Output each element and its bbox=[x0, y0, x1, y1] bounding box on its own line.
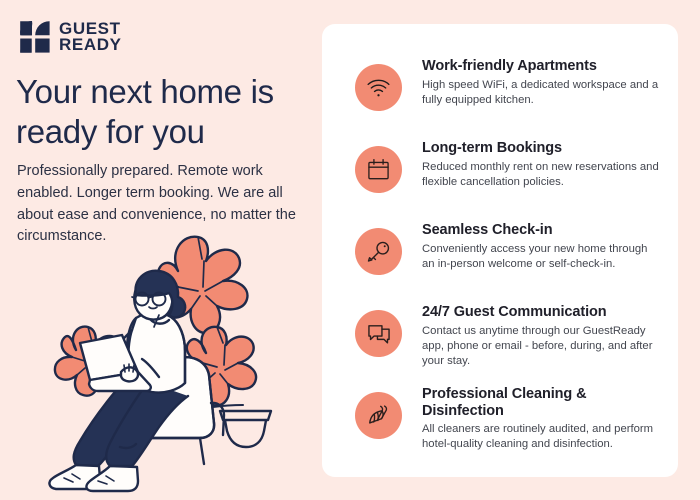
list-item[interactable]: Seamless Check-in Conveniently access yo… bbox=[355, 222, 663, 275]
list-item[interactable]: Work-friendly Apartments High speed WiFi… bbox=[355, 58, 663, 111]
wifi-icon bbox=[355, 64, 402, 111]
feature-description: All cleaners are routinely audited, and … bbox=[422, 422, 663, 452]
page-title: Your next home is ready for you bbox=[16, 72, 316, 153]
brand-logo[interactable]: GUEST READY bbox=[17, 21, 122, 54]
feature-text: Work-friendly Apartments High speed WiFi… bbox=[402, 58, 663, 108]
list-item[interactable]: Professional Cleaning & Disinfection All… bbox=[355, 386, 663, 452]
guestready-quadrant-logo-icon bbox=[17, 21, 50, 53]
hero-illustration bbox=[28, 225, 316, 497]
calendar-icon bbox=[355, 146, 402, 193]
feature-text: 24/7 Guest Communication Contact us anyt… bbox=[402, 304, 663, 369]
list-item[interactable]: 24/7 Guest Communication Contact us anyt… bbox=[355, 304, 663, 369]
chat-bubbles-icon bbox=[355, 310, 402, 357]
marketing-page: GUEST READY Your next home is ready for … bbox=[0, 0, 700, 500]
feature-description: Contact us anytime through our GuestRead… bbox=[422, 324, 663, 369]
feature-description: High speed WiFi, a dedicated workspace a… bbox=[422, 78, 663, 108]
feature-text: Long-term Bookings Reduced monthly rent … bbox=[402, 140, 663, 190]
feature-title: 24/7 Guest Communication bbox=[422, 304, 663, 321]
feature-title: Professional Cleaning & Disinfection bbox=[422, 386, 663, 419]
brand-wordmark: GUEST READY bbox=[59, 21, 122, 54]
feature-text: Professional Cleaning & Disinfection All… bbox=[402, 386, 663, 452]
feature-title: Work-friendly Apartments bbox=[422, 58, 663, 75]
feature-title: Seamless Check-in bbox=[422, 222, 663, 239]
key-icon bbox=[355, 228, 402, 275]
hero-column: GUEST READY Your next home is ready for … bbox=[0, 0, 320, 500]
brand-name-line2: READY bbox=[59, 37, 122, 53]
feature-title: Long-term Bookings bbox=[422, 140, 663, 157]
feature-text: Seamless Check-in Conveniently access yo… bbox=[402, 222, 663, 272]
features-card: Work-friendly Apartments High speed WiFi… bbox=[322, 24, 678, 477]
list-item[interactable]: Long-term Bookings Reduced monthly rent … bbox=[355, 140, 663, 193]
broom-icon bbox=[355, 392, 402, 439]
feature-description: Conveniently access your new home throug… bbox=[422, 242, 663, 272]
feature-description: Reduced monthly rent on new reservations… bbox=[422, 160, 663, 190]
